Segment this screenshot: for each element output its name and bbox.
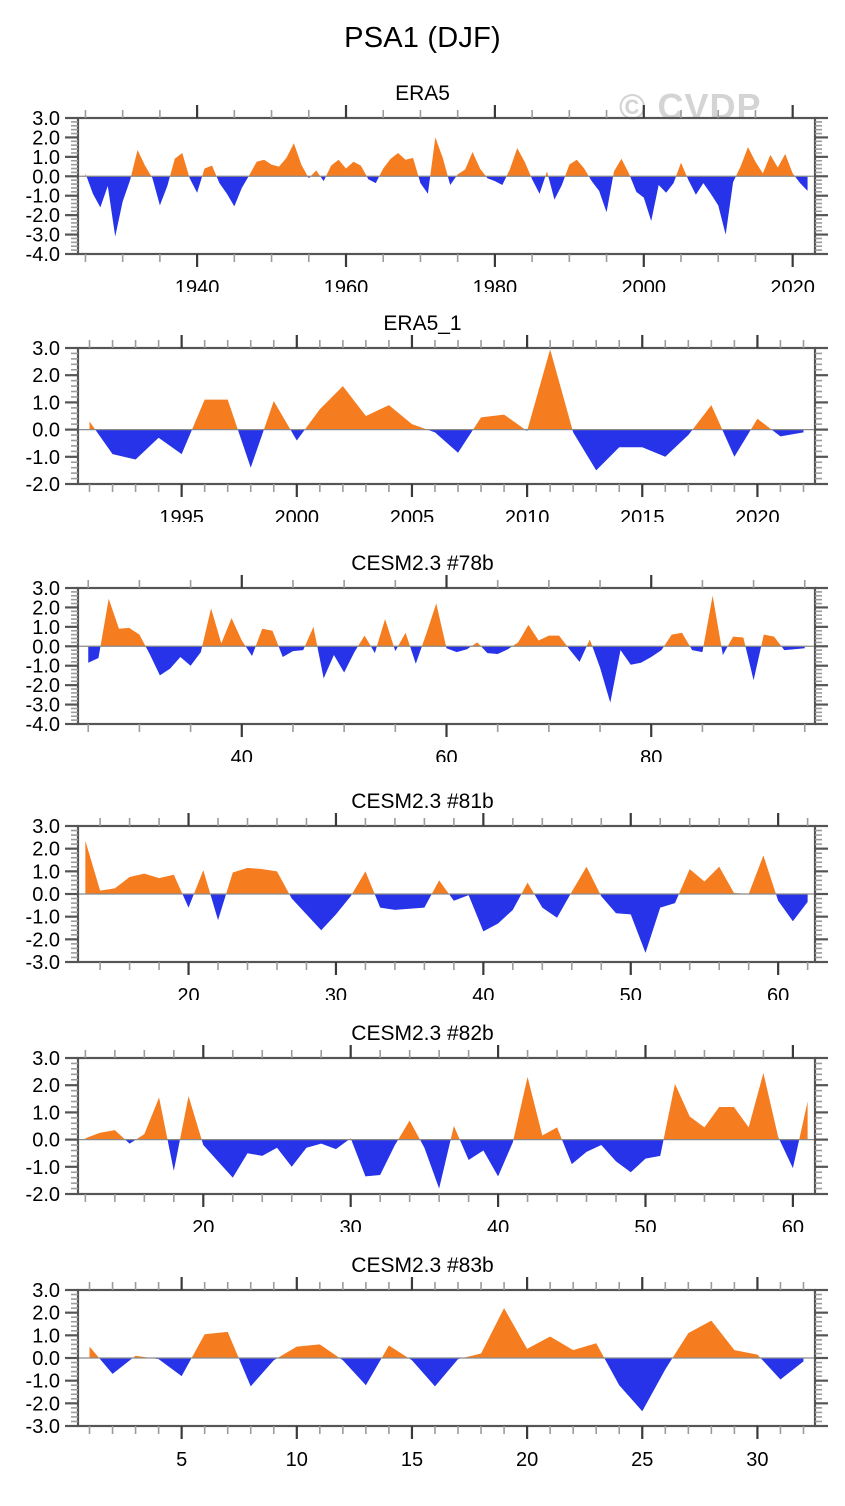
- svg-text:1.0: 1.0: [32, 1325, 60, 1347]
- svg-text:10: 10: [286, 1449, 308, 1469]
- figure-root: PSA1 (DJF) © CVDP ERA5 3.02.01.00.0-1.0-…: [0, 0, 845, 1506]
- svg-text:1.0: 1.0: [32, 861, 60, 883]
- svg-text:60: 60: [767, 985, 789, 1000]
- svg-text:20: 20: [177, 985, 199, 1000]
- svg-text:60: 60: [435, 747, 457, 762]
- svg-text:-1.0: -1.0: [26, 447, 60, 469]
- svg-text:2020: 2020: [735, 507, 780, 522]
- panel-0: ERA5 3.02.01.00.0-1.0-2.0-3.0-4.01940196…: [0, 82, 845, 292]
- svg-text:2.0: 2.0: [32, 1075, 60, 1097]
- svg-text:1995: 1995: [159, 507, 204, 522]
- svg-text:40: 40: [487, 1217, 509, 1232]
- plot-area-0: 3.02.01.00.0-1.0-2.0-3.0-4.0194019601980…: [0, 82, 845, 292]
- svg-text:2005: 2005: [390, 507, 435, 522]
- svg-text:1980: 1980: [473, 277, 518, 292]
- figure-title: PSA1 (DJF): [0, 22, 845, 55]
- svg-text:1.0: 1.0: [32, 392, 60, 414]
- panel-3: CESM2.3 #81b 3.02.01.00.0-1.0-2.0-3.0203…: [0, 790, 845, 1000]
- svg-text:-2.0: -2.0: [26, 1393, 60, 1415]
- svg-text:-1.0: -1.0: [26, 907, 60, 929]
- svg-text:-4.0: -4.0: [26, 244, 60, 266]
- svg-text:-3.0: -3.0: [26, 1416, 60, 1438]
- svg-text:-4.0: -4.0: [26, 714, 60, 736]
- svg-text:3.0: 3.0: [32, 1048, 60, 1070]
- panel-2: CESM2.3 #78b 3.02.01.00.0-1.0-2.0-3.0-4.…: [0, 552, 845, 762]
- plot-area-4: 3.02.01.00.0-1.0-2.02030405060: [0, 1022, 845, 1232]
- svg-text:0.0: 0.0: [32, 420, 60, 442]
- svg-text:40: 40: [472, 985, 494, 1000]
- svg-text:-1.0: -1.0: [26, 1371, 60, 1393]
- svg-text:30: 30: [340, 1217, 362, 1232]
- svg-text:80: 80: [640, 747, 662, 762]
- svg-text:2.0: 2.0: [32, 365, 60, 387]
- svg-text:15: 15: [401, 1449, 423, 1469]
- svg-text:2000: 2000: [622, 277, 667, 292]
- svg-text:-2.0: -2.0: [26, 474, 60, 496]
- panel-4: CESM2.3 #82b 3.02.01.00.0-1.0-2.02030405…: [0, 1022, 845, 1232]
- svg-text:-3.0: -3.0: [26, 952, 60, 974]
- svg-text:20: 20: [516, 1449, 538, 1469]
- svg-text:1.0: 1.0: [32, 1102, 60, 1124]
- svg-text:0.0: 0.0: [32, 1130, 60, 1152]
- svg-text:3.0: 3.0: [32, 1280, 60, 1302]
- svg-text:-2.0: -2.0: [26, 929, 60, 951]
- svg-text:30: 30: [325, 985, 347, 1000]
- svg-text:30: 30: [746, 1449, 768, 1469]
- svg-text:2.0: 2.0: [32, 839, 60, 861]
- panel-1: ERA5_1 3.02.01.00.0-1.0-2.01995200020052…: [0, 312, 845, 522]
- panel-5: CESM2.3 #83b 3.02.01.00.0-1.0-2.0-3.0510…: [0, 1254, 845, 1469]
- svg-text:3.0: 3.0: [32, 338, 60, 360]
- svg-text:60: 60: [782, 1217, 804, 1232]
- svg-text:50: 50: [634, 1217, 656, 1232]
- svg-text:1960: 1960: [324, 277, 369, 292]
- plot-area-1: 3.02.01.00.0-1.0-2.019952000200520102015…: [0, 312, 845, 522]
- svg-text:50: 50: [620, 985, 642, 1000]
- svg-text:20: 20: [192, 1217, 214, 1232]
- svg-text:5: 5: [176, 1449, 187, 1469]
- svg-text:2020: 2020: [770, 277, 815, 292]
- svg-text:0.0: 0.0: [32, 1348, 60, 1370]
- plot-area-3: 3.02.01.00.0-1.0-2.0-3.02030405060: [0, 790, 845, 1000]
- svg-text:2000: 2000: [275, 507, 320, 522]
- svg-text:25: 25: [631, 1449, 653, 1469]
- svg-text:-1.0: -1.0: [26, 1157, 60, 1179]
- plot-area-5: 3.02.01.00.0-1.0-2.0-3.051015202530: [0, 1254, 845, 1469]
- svg-text:2015: 2015: [620, 507, 665, 522]
- svg-text:40: 40: [231, 747, 253, 762]
- plot-area-2: 3.02.01.00.0-1.0-2.0-3.0-4.0406080: [0, 552, 845, 762]
- svg-text:-2.0: -2.0: [26, 1184, 60, 1206]
- svg-text:0.0: 0.0: [32, 884, 60, 906]
- svg-text:2.0: 2.0: [32, 1303, 60, 1325]
- svg-text:3.0: 3.0: [32, 816, 60, 838]
- svg-text:1940: 1940: [175, 277, 220, 292]
- svg-text:2010: 2010: [505, 507, 550, 522]
